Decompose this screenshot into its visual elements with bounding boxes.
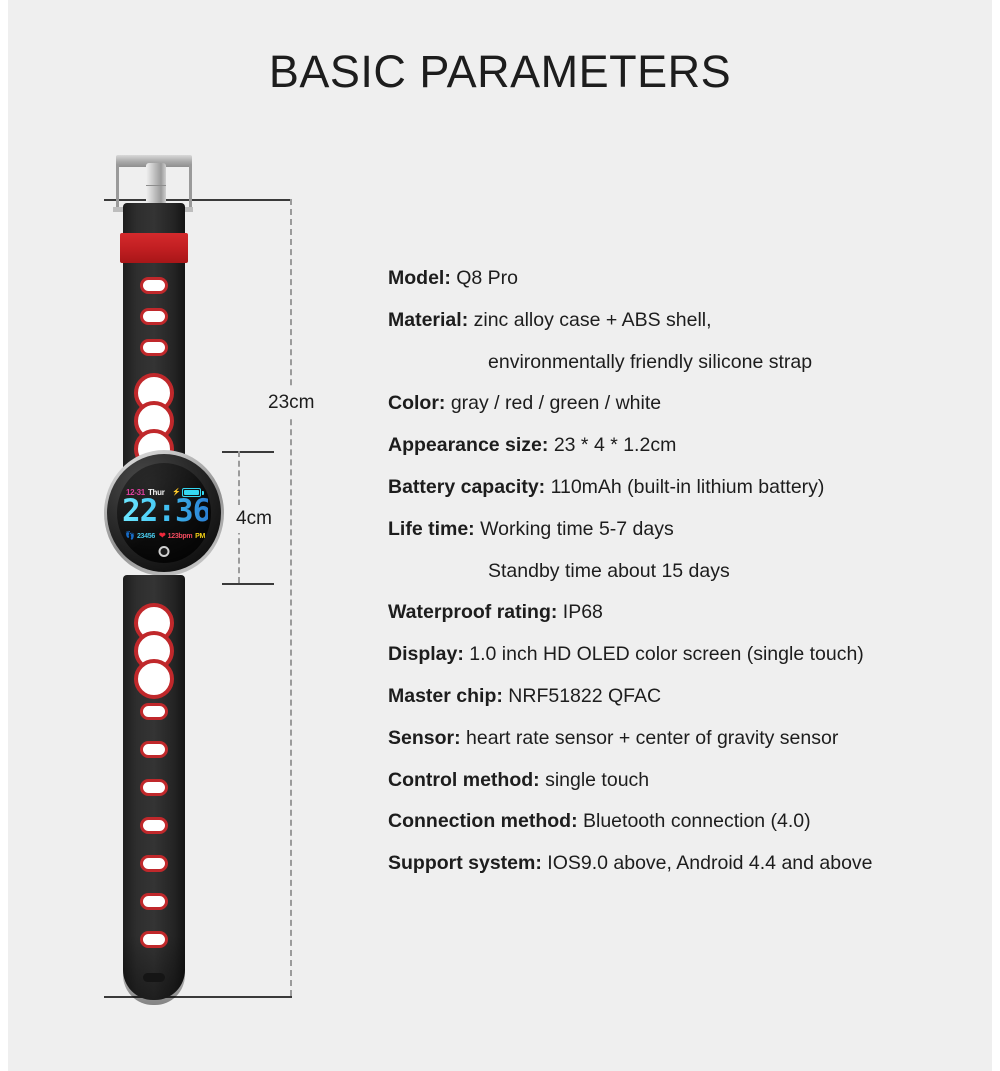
spec-value: NRF51822 QFAC (508, 685, 661, 707)
spec-label: Color: (388, 392, 445, 414)
strap-tip-notch (143, 973, 165, 982)
spec-value: single touch (545, 769, 649, 791)
specifications-list: Model: Q8 Pro Material: zinc alloy case … (388, 258, 968, 885)
spec-label: Connection method: (388, 810, 578, 832)
spec-value: zinc alloy case + ABS shell, (474, 309, 712, 331)
spec-label: Material: (388, 309, 468, 331)
spec-support-system: Support system: IOS9.0 above, Android 4.… (388, 843, 968, 885)
spec-material-continuation: environmentally friendly silicone strap (388, 342, 968, 384)
spec-connection-method: Connection method: Bluetooth connection … (388, 801, 968, 843)
strap-hole (140, 817, 168, 834)
spec-appearance-size: Appearance size: 23 * 4 * 1.2cm (388, 425, 968, 467)
spec-model: Model: Q8 Pro (388, 258, 968, 300)
right-margin (992, 0, 1000, 1071)
length-dimension-label: 23cm (264, 389, 318, 417)
spec-value: heart rate sensor + center of gravity se… (466, 727, 838, 749)
diameter-cap-top (222, 451, 274, 453)
heart-icon: ❤ (159, 532, 166, 540)
strap-hole (140, 855, 168, 872)
spec-value: IP68 (563, 601, 603, 623)
spec-value: 23 * 4 * 1.2cm (554, 434, 676, 456)
spec-value: IOS9.0 above, Android 4.4 and above (547, 852, 872, 874)
spec-value: gray / red / green / white (451, 392, 661, 414)
spec-control-method: Control method: single touch (388, 760, 968, 802)
strap-keeper-loop (120, 233, 188, 263)
footsteps-icon: 👣 (125, 532, 135, 540)
touch-button[interactable] (159, 546, 170, 557)
strap-hole (140, 339, 168, 356)
spec-waterproof-rating: Waterproof rating: IP68 (388, 592, 968, 634)
spec-sensor: Sensor: heart rate sensor + center of gr… (388, 718, 968, 760)
spec-label: Model: (388, 267, 451, 289)
spec-label: Appearance size: (388, 434, 548, 456)
spec-value: Q8 Pro (456, 267, 518, 289)
spec-label: Waterproof rating: (388, 601, 557, 623)
spec-label: Display: (388, 643, 464, 665)
strap-hole (140, 703, 168, 720)
watch-case: 12-31 Thur ⚡ 22:36 👣 23456 ❤ 123bpm PM (104, 450, 224, 576)
strap-hole (140, 741, 168, 758)
spec-value: Bluetooth connection (4.0) (583, 810, 811, 832)
strap-hole (140, 779, 168, 796)
strap-hole (140, 277, 168, 294)
diameter-dimension-label: 4cm (232, 505, 276, 533)
product-spec-page: BASIC PARAMETERS 23cm 4cm (0, 0, 1000, 1071)
strap-hole (140, 308, 168, 325)
screen-status-bottom: 👣 23456 ❤ 123bpm PM (125, 531, 205, 541)
spec-value: Working time 5-7 days (480, 518, 674, 540)
clasp-foot-left (113, 207, 123, 212)
spec-label: Sensor: (388, 727, 461, 749)
screen-time: 22:36 (122, 496, 208, 527)
spec-label: Support system: (388, 852, 542, 874)
spec-value: 1.0 inch HD OLED color screen (single to… (469, 643, 864, 665)
strap-hole (140, 931, 168, 948)
spec-life-time: Life time: Working time 5-7 days (388, 509, 968, 551)
strap-vent-circle (134, 659, 174, 699)
spec-color: Color: gray / red / green / white (388, 383, 968, 425)
spec-label: Control method: (388, 769, 540, 791)
spec-display: Display: 1.0 inch HD OLED color screen (… (388, 634, 968, 676)
left-margin (0, 0, 8, 1071)
screen-meridiem: PM (195, 533, 205, 540)
screen-heart-rate: 123bpm (168, 533, 193, 540)
diameter-cap-bottom (222, 583, 274, 585)
screen-steps: 23456 (137, 533, 155, 540)
strap-hole (140, 893, 168, 910)
spec-battery-capacity: Battery capacity: 110mAh (built-in lithi… (388, 467, 968, 509)
spec-label: Life time: (388, 518, 475, 540)
spec-value: 110mAh (built-in lithium battery) (551, 476, 825, 498)
spec-master-chip: Master chip: NRF51822 QFAC (388, 676, 968, 718)
spec-life-time-continuation: Standby time about 15 days (388, 551, 968, 593)
spec-label: Master chip: (388, 685, 503, 707)
spec-label: Battery capacity: (388, 476, 545, 498)
smartwatch-illustration: 12-31 Thur ⚡ 22:36 👣 23456 ❤ 123bpm PM (104, 155, 224, 1005)
page-title: BASIC PARAMETERS (0, 46, 1000, 98)
spec-material: Material: zinc alloy case + ABS shell, (388, 300, 968, 342)
length-dimension-line (290, 199, 292, 996)
